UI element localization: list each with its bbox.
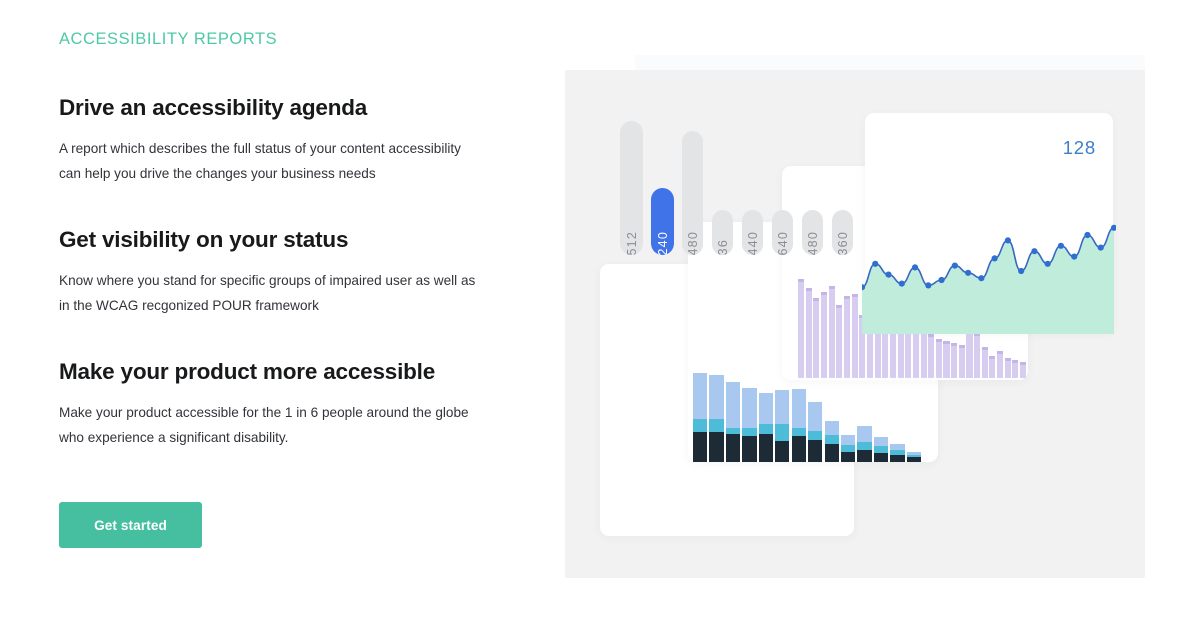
stacked-bar xyxy=(907,452,921,462)
purple-bar xyxy=(1020,362,1026,378)
pill-label-360[interactable]: 360 xyxy=(832,210,853,255)
stack-segment-top xyxy=(857,426,871,442)
stack-segment-top xyxy=(792,389,806,428)
pill-label-640[interactable]: 640 xyxy=(772,210,793,255)
stack-segment-bottom xyxy=(759,434,773,462)
stack-segment-bottom xyxy=(907,457,921,462)
stack-segment-top xyxy=(808,402,822,431)
purple-bar xyxy=(928,334,934,378)
purple-bar xyxy=(829,286,835,378)
area-chart-value-label: 128 xyxy=(1063,137,1096,159)
stack-segment-bottom xyxy=(808,440,822,462)
feature-heading-2: Get visibility on your status xyxy=(59,227,529,253)
stacked-bar xyxy=(857,426,871,462)
stacked-bar-chart xyxy=(693,370,921,462)
stack-segment-bottom xyxy=(726,434,740,462)
stacked-bar xyxy=(759,393,773,462)
purple-bar xyxy=(997,351,1003,378)
feature-body-2: Know where you stand for specific groups… xyxy=(59,268,479,318)
get-started-button[interactable]: Get started xyxy=(59,502,202,548)
stacked-bar xyxy=(874,437,888,462)
purple-bar xyxy=(966,330,972,378)
purple-bar xyxy=(1005,358,1011,378)
feature-body-1: A report which describes the full status… xyxy=(59,136,479,186)
stack-segment-top xyxy=(709,375,723,419)
stacked-bar xyxy=(825,421,839,462)
stack-segment-middle xyxy=(825,435,839,443)
purple-bar xyxy=(959,345,965,378)
pill-label-text: 440 xyxy=(746,222,760,255)
stack-segment-bottom xyxy=(874,453,888,462)
stack-segment-middle xyxy=(808,431,822,440)
pill-label-text: 640 xyxy=(776,222,790,255)
stack-segment-bottom xyxy=(709,432,723,462)
purple-bar xyxy=(982,347,988,378)
stack-segment-middle xyxy=(792,428,806,436)
stack-segment-middle xyxy=(841,445,855,452)
pill-label-text: 360 xyxy=(836,222,850,255)
pill-label-36[interactable]: 36 xyxy=(712,210,733,255)
feature-block-2: Get visibility on your status Know where… xyxy=(59,227,529,318)
stack-segment-middle xyxy=(693,419,707,432)
feature-block-1: Drive an accessibility agenda A report w… xyxy=(59,95,529,186)
stack-segment-bottom xyxy=(890,455,904,462)
stack-segment-middle xyxy=(759,424,773,434)
stack-segment-middle xyxy=(775,424,789,441)
purple-bar xyxy=(951,343,957,378)
stacked-bar xyxy=(890,444,904,462)
purple-bar xyxy=(943,341,949,378)
purple-bar xyxy=(974,333,980,378)
pill-label-text: 240 xyxy=(656,222,670,255)
stack-segment-bottom xyxy=(825,444,839,462)
purple-bar xyxy=(852,294,858,378)
stack-segment-top xyxy=(726,382,740,428)
stacked-bar xyxy=(841,435,855,462)
stack-segment-bottom xyxy=(857,450,871,462)
purple-bar xyxy=(813,298,819,378)
pill-label-text: 36 xyxy=(716,230,730,255)
area-chart-plot xyxy=(862,200,1116,334)
stacked-bar xyxy=(709,375,723,462)
stacked-bar xyxy=(775,390,789,462)
stack-segment-bottom xyxy=(841,452,855,462)
stack-segment-bottom xyxy=(792,436,806,462)
stack-segment-bottom xyxy=(693,432,707,462)
purple-bar xyxy=(989,356,995,378)
feature-body-3: Make your product accessible for the 1 i… xyxy=(59,400,479,450)
feature-block-3: Make your product more accessible Make y… xyxy=(59,359,529,450)
feature-heading-1: Drive an accessibility agenda xyxy=(59,95,529,121)
pill-label-240-active[interactable]: 240 xyxy=(651,188,674,255)
stack-segment-top xyxy=(825,421,839,436)
purple-bar xyxy=(798,279,804,378)
stacked-bar xyxy=(808,402,822,462)
pill-label-text: 480 xyxy=(806,222,820,255)
purple-bar xyxy=(836,305,842,378)
stack-segment-middle xyxy=(857,442,871,450)
stack-segment-top xyxy=(759,393,773,424)
stack-segment-bottom xyxy=(775,441,789,462)
purple-bar xyxy=(1012,360,1018,378)
stack-segment-middle xyxy=(709,419,723,432)
stacked-bar xyxy=(693,373,707,462)
stack-segment-top xyxy=(742,388,756,428)
feature-heading-3: Make your product more accessible xyxy=(59,359,529,385)
stacked-bar xyxy=(792,389,806,462)
stack-segment-top xyxy=(775,390,789,424)
pill-label-480[interactable]: 480 xyxy=(802,210,823,255)
pill-label-512[interactable]: 512 xyxy=(620,121,643,255)
pill-label-text: 512 xyxy=(625,222,639,255)
stacked-bar xyxy=(726,382,740,462)
purple-bar xyxy=(921,329,927,378)
purple-bar xyxy=(821,292,827,378)
dashboard-illustration: 128 51224048036440640480360 xyxy=(560,0,1200,643)
stacked-bar xyxy=(742,388,756,462)
stack-segment-top xyxy=(841,435,855,444)
landing-page-section: ACCESSIBILITY REPORTS Drive an accessibi… xyxy=(0,0,1200,643)
pill-label-text: 480 xyxy=(686,222,700,255)
stack-segment-middle xyxy=(742,428,756,436)
stack-segment-bottom xyxy=(742,436,756,462)
stack-segment-top xyxy=(693,373,707,419)
purple-bar xyxy=(806,288,812,378)
pill-label-440[interactable]: 440 xyxy=(742,210,763,255)
content-column: ACCESSIBILITY REPORTS Drive an accessibi… xyxy=(59,30,529,548)
purple-bar xyxy=(936,339,942,378)
stack-segment-top xyxy=(874,437,888,446)
purple-bar xyxy=(844,296,850,378)
pill-label-480[interactable]: 480 xyxy=(682,131,703,255)
section-eyebrow: ACCESSIBILITY REPORTS xyxy=(59,30,529,49)
